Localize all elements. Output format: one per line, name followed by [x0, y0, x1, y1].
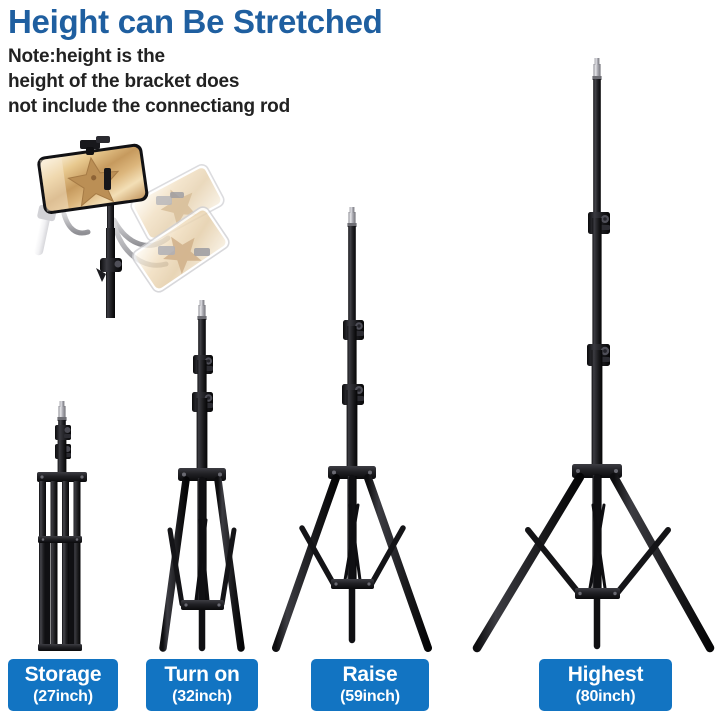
badge-raise[interactable]: Raise (59inch)	[311, 659, 429, 711]
column-main-highest	[592, 350, 603, 468]
product-illustration	[0, 0, 720, 714]
column-main-raise	[347, 390, 358, 470]
leg-hub-storage	[37, 472, 87, 482]
lower-collar-highest	[575, 588, 620, 599]
phone-holder-assembly	[18, 128, 248, 318]
spigot-storage	[57, 401, 66, 421]
badge-highest-label: Highest	[539, 663, 672, 687]
tripod-lineup-svg	[0, 0, 720, 714]
tripod-storage	[37, 401, 87, 651]
lower-collar-turn-on	[181, 600, 224, 610]
badge-raise-label: Raise	[311, 663, 429, 687]
legs-folded-storage	[38, 481, 82, 651]
tripod-raise	[276, 207, 428, 648]
column-section-2-highest	[592, 218, 601, 348]
badge-storage-label: Storage	[8, 663, 118, 687]
column-section-2-turn-on	[197, 360, 206, 396]
clamp-upper-storage	[55, 425, 71, 440]
infographic-page: Height can Be Stretched Note:height is t…	[0, 0, 720, 714]
spigot-raise	[347, 207, 356, 227]
badge-storage-height: (27inch)	[8, 687, 118, 707]
column-section-3-turn-on	[198, 319, 206, 359]
phone-holder-svg	[18, 128, 248, 318]
badge-turn-on[interactable]: Turn on (32inch)	[146, 659, 258, 711]
tripod-highest	[477, 58, 710, 648]
phone-holder-arm	[104, 168, 111, 190]
column-section-3-raise	[348, 226, 356, 324]
legs-raise	[276, 478, 428, 648]
tripod-turn-on	[163, 300, 241, 648]
column-main-turn-on	[197, 398, 208, 470]
badge-storage[interactable]: Storage (27inch)	[8, 659, 118, 711]
badge-turn-on-label: Turn on	[146, 663, 258, 687]
badge-turn-on-height: (32inch)	[146, 687, 258, 707]
badge-raise-height: (59inch)	[311, 687, 429, 707]
badge-highest-height: (80inch)	[539, 687, 672, 707]
column-section-3-highest	[593, 79, 601, 217]
badge-highest[interactable]: Highest (80inch)	[539, 659, 672, 711]
spigot-highest	[592, 58, 601, 80]
lower-collar-raise	[331, 579, 374, 589]
column-section-2-raise	[347, 326, 356, 388]
